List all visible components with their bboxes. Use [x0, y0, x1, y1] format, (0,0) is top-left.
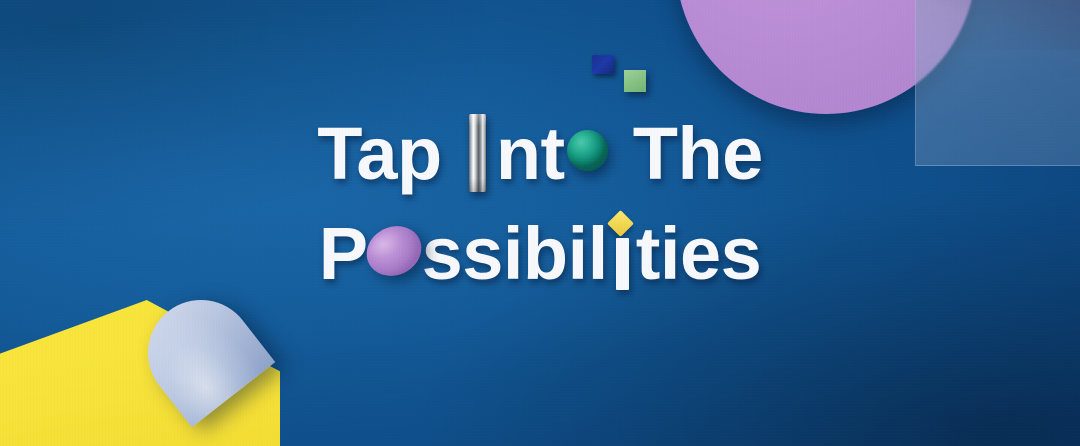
metallic-cylinder-icon — [462, 117, 496, 191]
yellow-diamond-icon — [608, 217, 636, 291]
disc-body — [358, 217, 429, 285]
headline-line1-part-c: The — [613, 112, 763, 195]
headline-line1-part-b: nt — [496, 112, 565, 195]
headline-line-1: Tap nt The — [0, 104, 1080, 204]
headline-line1-part-a: Tap — [317, 112, 462, 195]
cylinder-body — [469, 114, 486, 192]
headline-line2-part-b: ssibil — [422, 212, 608, 295]
letter-i-stem — [616, 238, 629, 290]
headline-line-2: Pssibilties — [0, 204, 1080, 304]
hero-banner: Tap nt The Pssibilties — [0, 0, 1080, 446]
headline-line2-part-a: P — [319, 212, 368, 295]
headline-line2-part-c: ties — [636, 212, 762, 295]
navy-square-shape — [592, 55, 614, 74]
purple-disc-icon — [368, 219, 422, 293]
green-square-shape — [624, 70, 646, 92]
sphere-body — [567, 130, 608, 171]
teal-sphere-icon — [565, 119, 613, 193]
diamond-body — [607, 210, 634, 237]
page-title: Tap nt The Pssibilties — [0, 104, 1080, 304]
